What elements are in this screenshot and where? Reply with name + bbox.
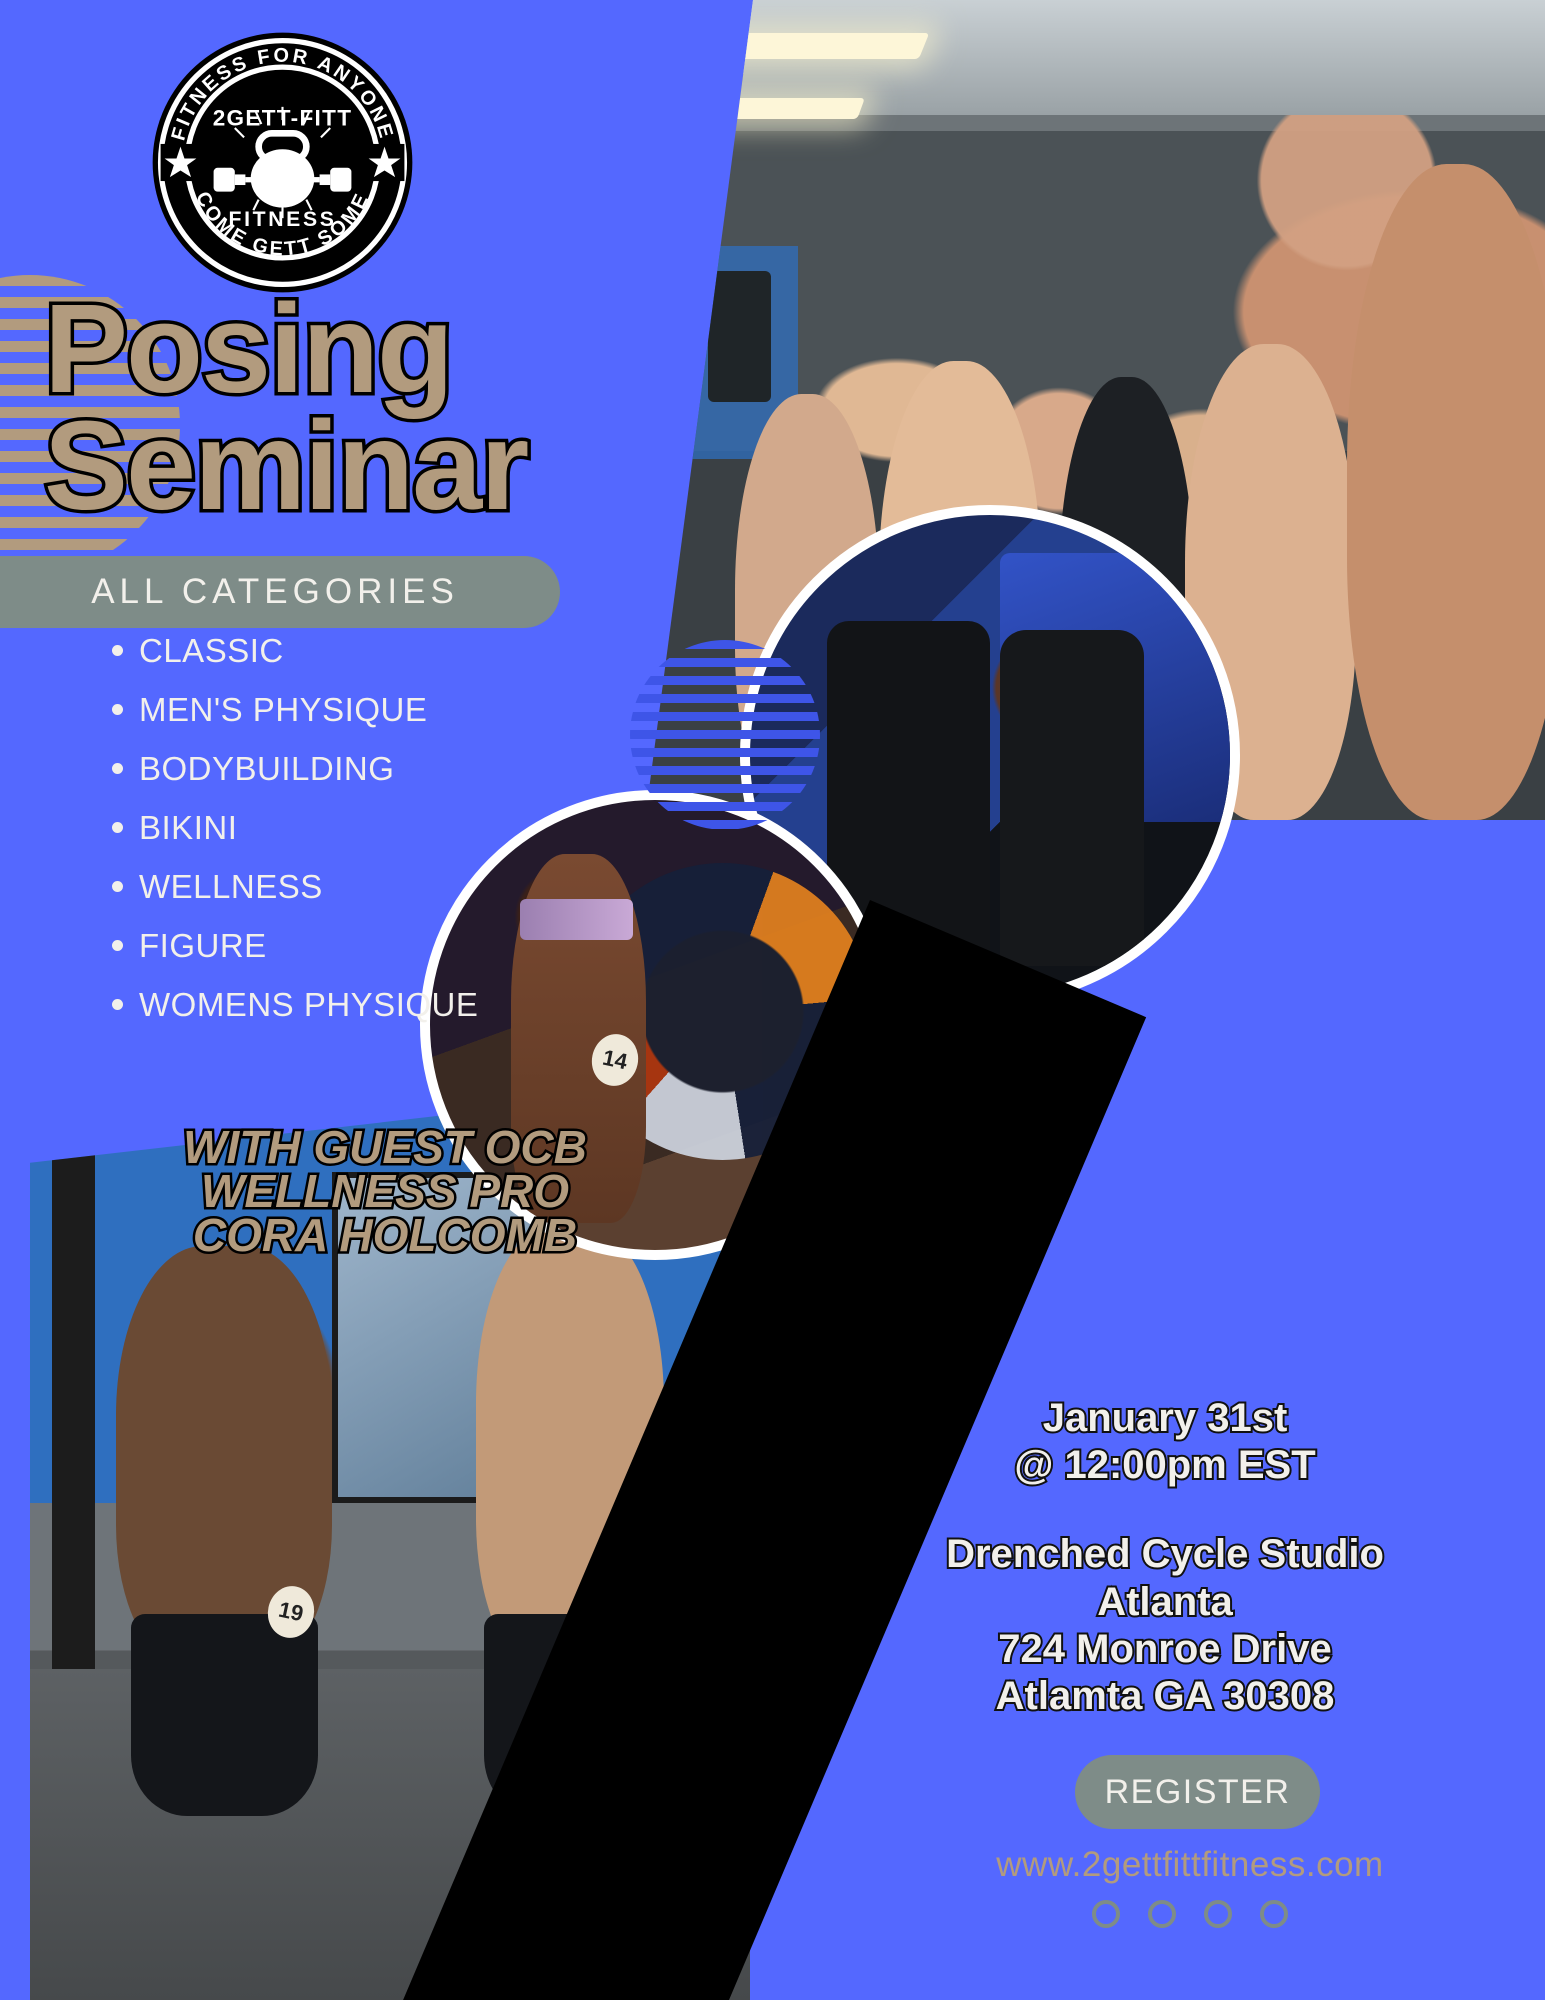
list-item: CLASSIC [112, 634, 632, 667]
bullet-icon [112, 822, 123, 833]
page-title: Posing Seminar [44, 290, 644, 524]
all-categories-banner: ALL CATEGORIES [0, 556, 560, 628]
event-time: @ 12:00pm EST [815, 1442, 1515, 1489]
event-details: January 31st @ 12:00pm EST Drenched Cycl… [815, 1395, 1515, 1720]
headline-line-2: Seminar [44, 407, 644, 524]
category-label: BIKINI [139, 811, 237, 844]
venue-name: Drenched Cycle Studio [815, 1531, 1515, 1578]
athlete-shorts [131, 1614, 318, 1816]
striped-circle-decoration [630, 640, 820, 830]
bullet-icon [112, 999, 123, 1010]
venue-city-state-zip: Atlamta GA 30308 [815, 1673, 1515, 1720]
categories-list: CLASSIC MEN'S PHYSIQUE BODYBUILDING BIKI… [112, 634, 632, 1047]
wall-speaker [708, 271, 771, 402]
category-label: WELLNESS [139, 870, 323, 903]
list-item: FIGURE [112, 929, 632, 962]
bullet-icon [112, 645, 123, 656]
guest-line-1: WITH GUEST OCB [150, 1125, 620, 1169]
bullet-icon [112, 763, 123, 774]
ceiling-light [685, 33, 930, 59]
list-item: MEN'S PHYSIQUE [112, 693, 632, 726]
category-label: WOMENS PHYSIQUE [139, 988, 478, 1021]
social-circle-icon[interactable] [1260, 1900, 1288, 1928]
bullet-icon [112, 940, 123, 951]
social-icons-row [870, 1900, 1510, 1928]
venue-street: 724 Monroe Drive [815, 1626, 1515, 1673]
register-button[interactable]: REGISTER [1075, 1755, 1320, 1829]
register-label: REGISTER [1105, 1773, 1291, 1812]
category-label: MEN'S PHYSIQUE [139, 693, 427, 726]
guest-line-2: WELLNESS PRO [150, 1169, 620, 1213]
list-item: BIKINI [112, 811, 632, 844]
guest-announcement: WITH GUEST OCB WELLNESS PRO CORA HOLCOMB [150, 1125, 620, 1257]
social-circle-icon[interactable] [1148, 1900, 1176, 1928]
category-label: CLASSIC [139, 634, 284, 667]
person-silhouette [1000, 630, 1144, 966]
ceiling-light [695, 98, 865, 119]
venue-city: Atlanta [815, 1579, 1515, 1626]
social-circle-icon[interactable] [1092, 1900, 1120, 1928]
all-categories-label: ALL CATEGORIES [41, 572, 459, 612]
guest-line-3: CORA HOLCOMB [150, 1213, 620, 1257]
website-link[interactable]: www.2gettfittfitness.com [870, 1845, 1510, 1885]
bullet-icon [112, 704, 123, 715]
brand-logo: FITNESS FOR ANYONE COME GETT SOME 2GETT-… [150, 30, 415, 295]
social-circle-icon[interactable] [1204, 1900, 1232, 1928]
logo-brand-text: 2GETT-FITT [213, 105, 353, 130]
list-item: WELLNESS [112, 870, 632, 903]
person-silhouette [1347, 164, 1545, 820]
list-item: WOMENS PHYSIQUE [112, 988, 632, 1021]
headline-line-1: Posing [44, 290, 644, 407]
category-label: BODYBUILDING [139, 752, 394, 785]
event-venue: Drenched Cycle Studio Atlanta 724 Monroe… [815, 1531, 1515, 1720]
event-date: January 31st [815, 1395, 1515, 1442]
bullet-icon [112, 881, 123, 892]
category-label: FIGURE [139, 929, 267, 962]
logo-sub-text: FITNESS [228, 208, 336, 231]
flyer-canvas: 19 14 [0, 0, 1545, 2000]
list-item: BODYBUILDING [112, 752, 632, 785]
event-datetime: January 31st @ 12:00pm EST [815, 1395, 1515, 1489]
